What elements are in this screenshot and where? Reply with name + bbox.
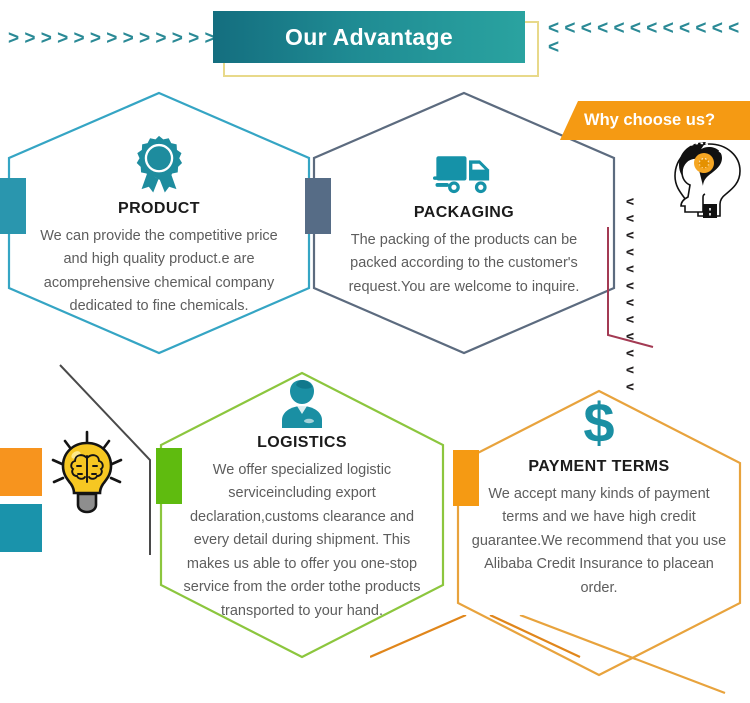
award-badge-icon (128, 132, 190, 194)
card-payment-title: PAYMENT TERMS (528, 458, 669, 476)
card-logistics-title: LOGISTICS (257, 434, 347, 452)
lightbulb-brain-icon (48, 430, 126, 520)
card-payment-tab (453, 450, 479, 506)
page-title: Our Advantage (285, 24, 453, 51)
vertical-chevrons-text: v v v v v v v v v v v v (626, 198, 637, 394)
question-head-icon (668, 138, 748, 220)
header-chevrons-right: < < < < < < < < < < < < < (548, 27, 750, 49)
card-logistics-content: LOGISTICS We offer specialized logistic … (158, 370, 446, 660)
card-product-body: We can provide the competitive price and… (32, 225, 286, 319)
teal-square-decoration (0, 504, 42, 552)
delivery-truck-icon (433, 148, 495, 198)
svg-text:$: $ (583, 394, 614, 452)
orange-square-decoration (0, 448, 42, 496)
dollar-sign-icon: $ (576, 394, 622, 452)
why-choose-us-banner[interactable]: Why choose us? (560, 101, 750, 140)
card-product-tab (0, 178, 26, 234)
card-product-title: PRODUCT (118, 200, 200, 218)
card-packaging-title: PACKAGING (414, 204, 514, 222)
card-logistics-tab (156, 448, 182, 504)
card-packaging-body: The packing of the products can be packe… (327, 229, 601, 299)
header-chevrons-left: > > > > > > > > > > > > > > (8, 27, 237, 49)
why-choose-us-label: Why choose us? (584, 111, 715, 130)
card-payment[interactable]: $ PAYMENT TERMS We accept many kinds of … (455, 388, 743, 678)
person-user-icon (278, 378, 326, 428)
header-banner: Our Advantage (213, 11, 525, 63)
card-payment-body: We accept many kinds of payment terms an… (471, 483, 727, 600)
card-logistics-body: We offer specialized logistic serviceinc… (176, 459, 428, 623)
card-packaging-tab (305, 178, 331, 234)
vertical-chevrons: v v v v v v v v v v v v (622, 198, 640, 394)
infographic-canvas: > > > > > > > > > > > > > > Our Advantag… (0, 0, 750, 703)
header-block: Our Advantage (213, 11, 525, 63)
card-product[interactable]: PRODUCT We can provide the competitive p… (6, 90, 312, 356)
card-payment-content: $ PAYMENT TERMS We accept many kinds of … (455, 388, 743, 678)
chevrons-right-text: < < < < < < < < < < < < < (548, 19, 745, 57)
card-product-content: PRODUCT We can provide the competitive p… (6, 90, 312, 356)
card-logistics[interactable]: LOGISTICS We offer specialized logistic … (158, 370, 446, 660)
chevrons-left-text: > > > > > > > > > > > > > > (8, 29, 232, 48)
